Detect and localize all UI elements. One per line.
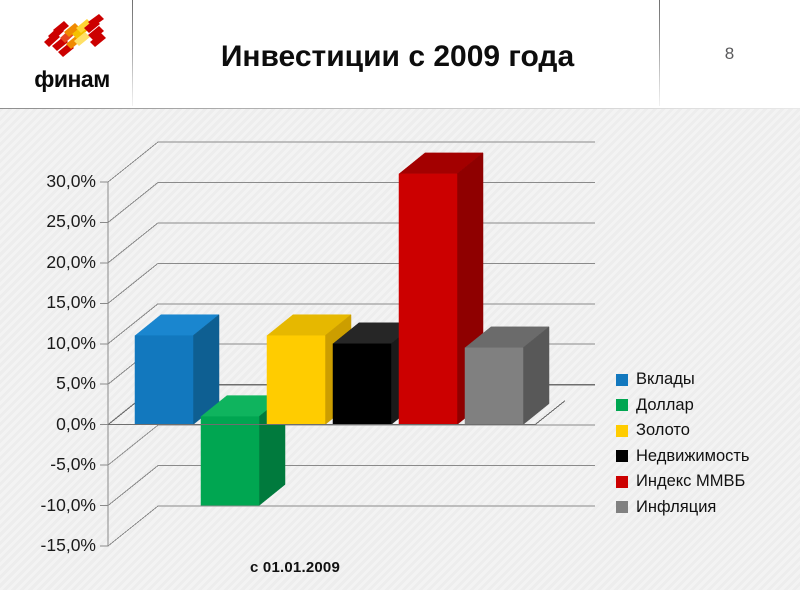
legend-label: Недвижимость [636, 447, 750, 466]
y-tick-label: 10,0% [4, 336, 96, 350]
legend-item-6[interactable]: Инфляция [616, 495, 800, 521]
chart-area: 30,0%25,0%20,0%15,0%10,0%5,0%0,0%-5,0%-1… [0, 109, 800, 590]
finam-wordmark: финам [22, 66, 122, 93]
legend-swatch-icon [616, 476, 628, 488]
bar-1 [135, 315, 219, 425]
legend-label: Индекс ММВБ [636, 472, 745, 491]
y-tick-label: 0,0% [4, 417, 96, 431]
slide: финам Инвестиции с 2009 года 8 30,0%25,0… [0, 0, 800, 590]
legend-item-4[interactable]: Недвижимость [616, 444, 800, 470]
legend-swatch-icon [616, 501, 628, 513]
legend-swatch-icon [616, 425, 628, 437]
y-tick-label: 30,0% [4, 174, 96, 188]
finam-ribbon-icon [22, 8, 122, 68]
legend-label: Золото [636, 421, 690, 440]
y-axis-tick-labels: 30,0%25,0%20,0%15,0%10,0%5,0%0,0%-5,0%-1… [0, 109, 96, 590]
y-tick-label: -10,0% [4, 498, 96, 512]
chart-bars [135, 153, 549, 506]
category-axis-label: с 01.01.2009 [250, 559, 340, 576]
legend-swatch-icon [616, 374, 628, 386]
header-divider-left [132, 0, 133, 106]
legend-item-3[interactable]: Золото [616, 418, 800, 444]
y-tick-label: 5,0% [4, 376, 96, 390]
y-tick-label: 15,0% [4, 295, 96, 309]
page-title: Инвестиции с 2009 года [150, 40, 645, 74]
y-tick-label: -15,0% [4, 538, 96, 552]
legend-item-1[interactable]: Вклады [616, 367, 800, 393]
legend-label: Доллар [636, 396, 694, 415]
y-tick-label: 20,0% [4, 255, 96, 269]
legend-swatch-icon [616, 450, 628, 462]
slide-header: финам Инвестиции с 2009 года 8 [0, 0, 800, 109]
bar-6 [465, 327, 549, 425]
finam-logo: финам [22, 8, 122, 100]
slide-number: 8 [659, 44, 800, 64]
y-tick-label: 25,0% [4, 214, 96, 228]
legend-label: Вклады [636, 370, 695, 389]
legend-item-2[interactable]: Доллар [616, 393, 800, 419]
legend-swatch-icon [616, 399, 628, 411]
legend-label: Инфляция [636, 498, 716, 517]
chart-legend: ВкладыДолларЗолотоНедвижимостьИндекс ММВ… [616, 367, 800, 520]
legend-item-5[interactable]: Индекс ММВБ [616, 469, 800, 495]
y-tick-label: -5,0% [4, 457, 96, 471]
